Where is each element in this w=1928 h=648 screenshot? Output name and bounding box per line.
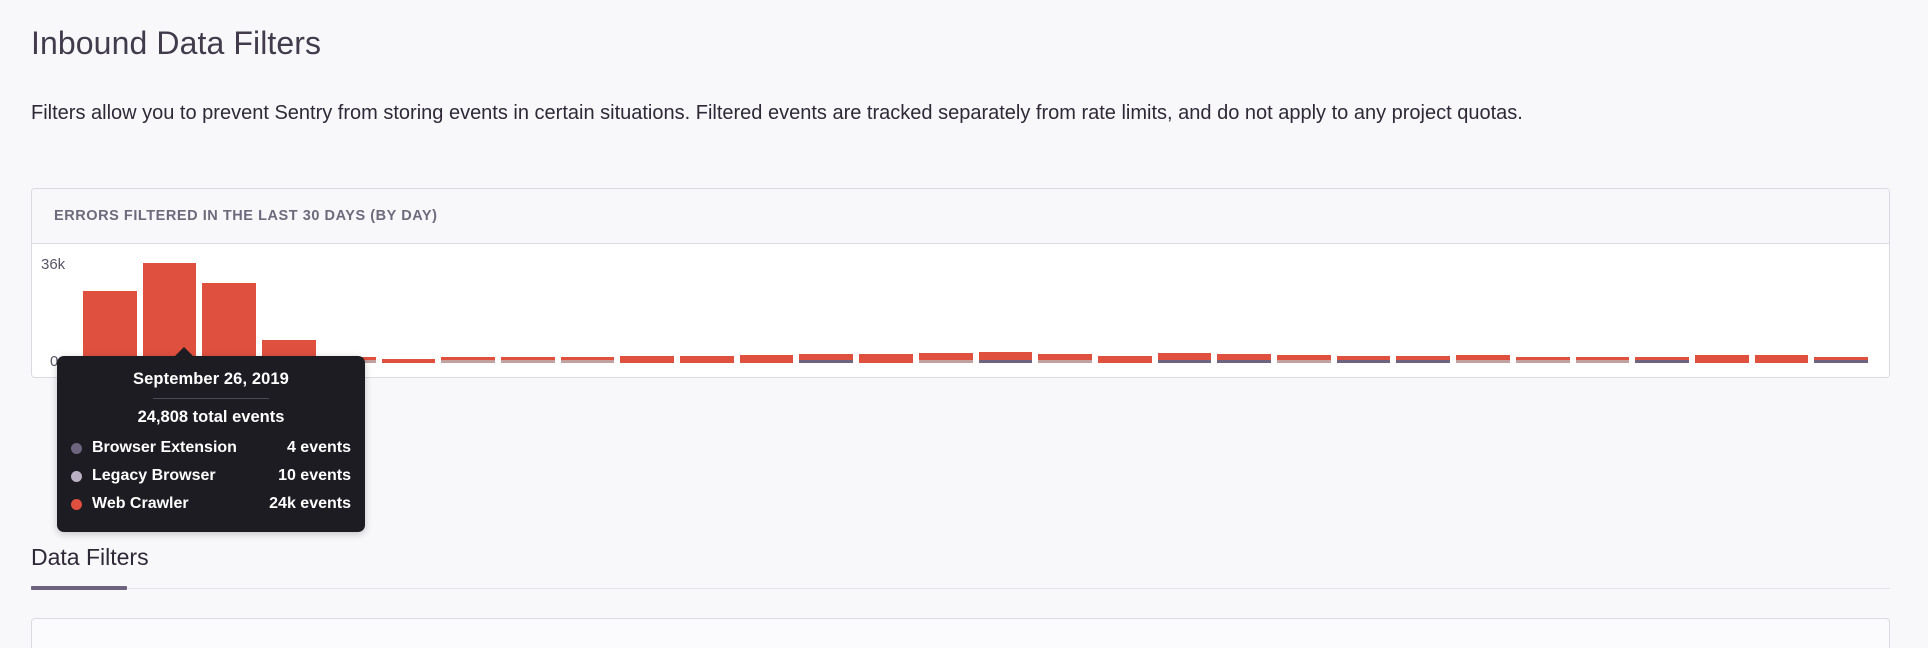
data-filters-panel	[31, 618, 1890, 648]
bar-stack	[1695, 355, 1749, 363]
tooltip-value-legacy-browser: 10 events	[278, 467, 351, 485]
section-divider	[31, 588, 1890, 589]
tooltip-label-browser-extension: Browser Extension	[92, 439, 237, 457]
bar-slot[interactable]	[617, 255, 677, 363]
bar-segment	[1576, 360, 1630, 363]
tooltip-value-web-crawler: 24k events	[269, 495, 351, 513]
legend-dot-legacy-browser-icon	[71, 471, 82, 482]
bar-segment	[1158, 353, 1212, 361]
chart-tooltip: September 26, 2019 24,808 total events B…	[57, 356, 365, 532]
bar-slot[interactable]	[1752, 255, 1812, 363]
y-axis-max-label: 36k	[41, 257, 65, 272]
bar-segment	[1814, 360, 1868, 363]
bar-segment	[1635, 360, 1689, 363]
bar-segment	[202, 283, 256, 357]
bar-segment	[1516, 360, 1570, 363]
tooltip-row-web-crawler: Web Crawler 24k events	[71, 490, 351, 518]
bar-slot[interactable]	[976, 255, 1036, 363]
data-filters-section-title: Data Filters	[31, 542, 149, 572]
bar-stack	[620, 356, 674, 363]
tooltip-row-browser-extension: Browser Extension 4 events	[71, 434, 351, 462]
bar-segment	[1755, 355, 1809, 363]
bar-segment	[620, 356, 674, 363]
bar-slot[interactable]	[498, 255, 558, 363]
bar-slot[interactable]	[1513, 255, 1573, 363]
bar-slot[interactable]	[916, 255, 976, 363]
page-description: Filters allow you to prevent Sentry from…	[31, 98, 1531, 129]
section-divider-accent	[31, 586, 127, 590]
bar-slot[interactable]	[1155, 255, 1215, 363]
bar-segment	[1098, 356, 1152, 363]
bar-slot[interactable]	[199, 255, 259, 363]
bar-slot[interactable]	[856, 255, 916, 363]
bar-segment	[382, 359, 436, 364]
bar-slot[interactable]	[259, 255, 319, 363]
bar-segment	[561, 360, 615, 363]
legend-dot-web-crawler-icon	[71, 499, 82, 510]
bar-stack	[1038, 354, 1092, 363]
bar-segment	[1217, 360, 1271, 363]
tooltip-total-events: 24,808 total events	[71, 408, 351, 434]
bar-segment	[680, 356, 734, 363]
chart-panel-header: ERRORS FILTERED IN THE LAST 30 DAYS (BY …	[32, 189, 1889, 244]
legend-dot-browser-extension-icon	[71, 443, 82, 454]
bar-segment	[1456, 360, 1510, 363]
bar-slot[interactable]	[1035, 255, 1095, 363]
bar-segment	[441, 360, 495, 363]
bar-segment	[501, 360, 555, 363]
tooltip-date: September 26, 2019	[71, 370, 351, 398]
bar-series-container	[80, 255, 1871, 363]
bar-slot[interactable]	[1573, 255, 1633, 363]
tooltip-arrow-icon	[174, 347, 194, 357]
bar-stack	[1755, 355, 1809, 363]
bar-segment	[919, 360, 973, 363]
bar-stack	[919, 353, 973, 363]
bar-stack	[1098, 356, 1152, 363]
bar-slot[interactable]	[558, 255, 618, 363]
chart-panel-title: ERRORS FILTERED IN THE LAST 30 DAYS (BY …	[54, 208, 438, 224]
bar-stack	[1396, 356, 1450, 363]
bar-segment	[799, 360, 853, 363]
bar-segment	[919, 353, 973, 360]
page-title: Inbound Data Filters	[31, 22, 321, 64]
bar-stack	[1158, 353, 1212, 364]
bar-slot[interactable]	[80, 255, 140, 363]
bar-stack	[1456, 355, 1510, 363]
bar-slot[interactable]	[1811, 255, 1871, 363]
bar-stack	[859, 354, 913, 363]
bar-stack	[382, 359, 436, 364]
tooltip-label-web-crawler: Web Crawler	[92, 495, 189, 513]
bar-stack	[680, 356, 734, 363]
bar-segment	[740, 355, 794, 363]
bar-stack	[441, 357, 495, 363]
bar-slot[interactable]	[319, 255, 379, 363]
bar-stack	[83, 291, 137, 363]
bar-slot[interactable]	[1632, 255, 1692, 363]
bar-stack	[740, 355, 794, 363]
bar-segment	[83, 291, 137, 363]
bar-slot[interactable]	[796, 255, 856, 363]
bar-stack	[1337, 356, 1391, 363]
bar-slot[interactable]	[1334, 255, 1394, 363]
bar-slot[interactable]	[438, 255, 498, 363]
bar-stack	[1635, 357, 1689, 363]
bar-segment	[1695, 355, 1749, 363]
bar-segment	[979, 352, 1033, 360]
errors-filtered-chart-panel: ERRORS FILTERED IN THE LAST 30 DAYS (BY …	[31, 188, 1890, 378]
bar-stack	[1814, 357, 1868, 363]
tooltip-row-legacy-browser: Legacy Browser 10 events	[71, 462, 351, 490]
bar-slot[interactable]	[1095, 255, 1155, 363]
bar-segment	[1158, 360, 1212, 363]
bar-stack	[501, 357, 555, 363]
tooltip-divider	[153, 398, 269, 399]
bar-stack	[799, 354, 853, 363]
bar-segment	[979, 360, 1033, 363]
tooltip-label-legacy-browser: Legacy Browser	[92, 467, 216, 485]
bar-segment	[1277, 360, 1331, 363]
bar-segment	[1337, 360, 1391, 363]
bar-stack	[561, 357, 615, 363]
bar-slot[interactable]	[737, 255, 797, 363]
bar-stack	[202, 283, 256, 363]
bar-slot[interactable]	[1692, 255, 1752, 363]
bar-stack	[1277, 355, 1331, 363]
tooltip-value-browser-extension: 4 events	[287, 439, 351, 457]
bar-slot[interactable]	[1393, 255, 1453, 363]
bar-stack	[979, 352, 1033, 363]
bar-slot[interactable]	[1274, 255, 1334, 363]
bar-slot[interactable]	[677, 255, 737, 363]
bar-stack	[1576, 357, 1630, 363]
bar-slot[interactable]	[1453, 255, 1513, 363]
bar-stack	[1217, 354, 1271, 363]
bar-segment	[1038, 360, 1092, 363]
bar-slot[interactable]	[1214, 255, 1274, 363]
bar-segment	[1396, 360, 1450, 363]
bar-slot[interactable]	[379, 255, 439, 363]
bar-segment	[859, 354, 913, 363]
bar-stack	[1516, 357, 1570, 363]
